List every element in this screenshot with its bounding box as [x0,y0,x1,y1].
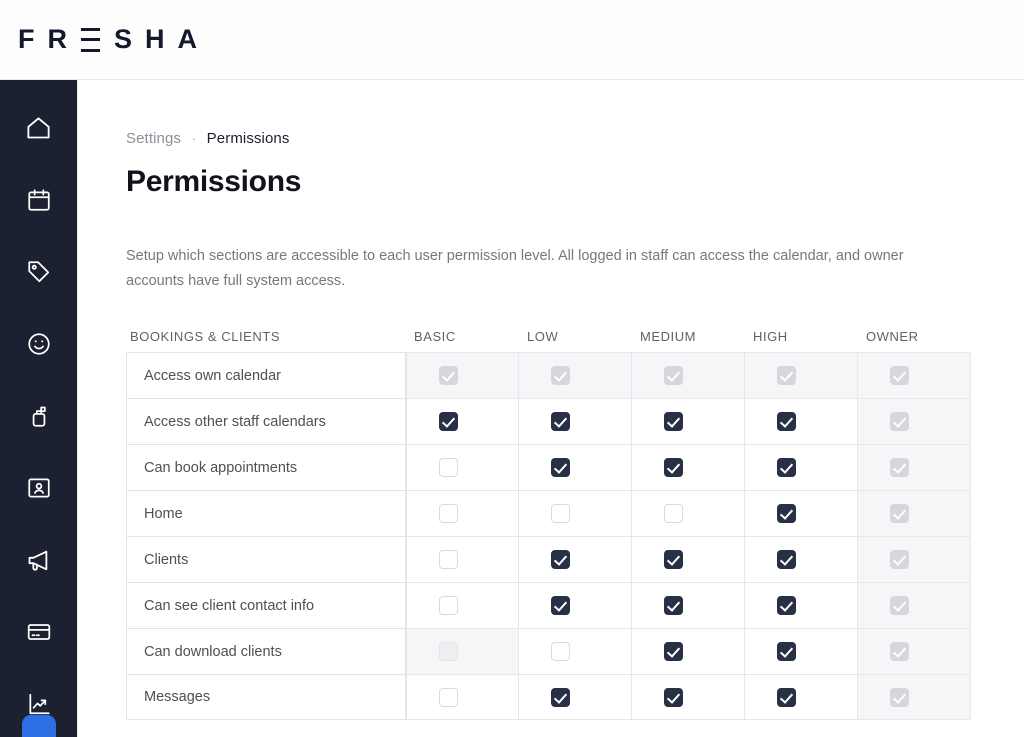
home-icon [25,115,52,142]
table-row: Access own calendar [126,352,971,398]
checkbox-disabled-checked-icon [890,688,909,707]
table-row: Messages [126,674,971,720]
permission-label: Access other staff calendars [126,398,406,444]
checkbox-checked-icon[interactable] [551,412,570,431]
permission-cell-low[interactable] [519,444,632,490]
logo-letter-h: H [145,26,165,53]
permission-cell-low[interactable] [519,674,632,720]
permission-cell-basic[interactable] [406,536,519,582]
checkbox-checked-icon[interactable] [551,688,570,707]
checkbox-unchecked-icon[interactable] [439,550,458,569]
checkbox-disabled-checked-icon [890,642,909,661]
permission-cell-high[interactable] [745,628,858,674]
table-row: Home [126,490,971,536]
checkbox-checked-icon[interactable] [777,504,796,523]
table-row: Clients [126,536,971,582]
permission-cell-low[interactable] [519,398,632,444]
permission-cell-medium[interactable] [632,444,745,490]
checkbox-checked-icon[interactable] [664,412,683,431]
checkbox-checked-icon[interactable] [777,688,796,707]
permission-label: Messages [126,674,406,720]
permission-cell-low[interactable] [519,582,632,628]
permission-cell-basic[interactable] [406,582,519,628]
checkbox-checked-icon[interactable] [664,596,683,615]
staff-card-icon [26,475,52,501]
permission-cell-low [519,352,632,398]
permission-label: Home [126,490,406,536]
fresha-logo[interactable]: F R S H A [18,23,197,57]
permission-cell-owner [858,444,971,490]
permission-cell-basic[interactable] [406,674,519,720]
checkbox-disabled-unchecked-icon [439,642,458,661]
logo-letter-s: S [114,26,132,53]
permission-cell-basic[interactable] [406,444,519,490]
checkbox-checked-icon[interactable] [777,412,796,431]
table-section-header: BOOKINGS & CLIENTS [126,329,406,344]
permissions-page: F R S H A [0,0,1024,737]
sidebar-item-calendar[interactable] [17,178,61,222]
soap-dispenser-icon [26,403,52,429]
main-content: Settings · Permissions Permissions Setup… [77,80,1024,737]
checkbox-checked-icon[interactable] [777,596,796,615]
checkbox-disabled-checked-icon [890,412,909,431]
permission-cell-high [745,352,858,398]
permission-cell-low[interactable] [519,628,632,674]
checkbox-checked-icon[interactable] [551,596,570,615]
checkbox-disabled-checked-icon [890,504,909,523]
permission-cell-owner [858,582,971,628]
checkbox-unchecked-icon[interactable] [551,642,570,661]
permission-cell-low[interactable] [519,536,632,582]
page-title: Permissions [126,165,1024,199]
permission-label: Can download clients [126,628,406,674]
checkbox-disabled-checked-icon [777,366,796,385]
smiley-icon [26,331,52,357]
checkbox-unchecked-icon[interactable] [551,504,570,523]
permission-cell-low[interactable] [519,490,632,536]
checkbox-disabled-checked-icon [664,366,683,385]
permission-cell-medium [632,352,745,398]
checkbox-disabled-checked-icon [439,366,458,385]
checkbox-disabled-checked-icon [890,550,909,569]
checkbox-checked-icon[interactable] [664,458,683,477]
table-header-row: BOOKINGS & CLIENTS BASIC LOW MEDIUM HIGH… [126,322,971,344]
tag-icon [26,259,52,285]
checkbox-checked-icon[interactable] [439,412,458,431]
sidebar-item-payments[interactable] [17,610,61,654]
permission-cell-medium[interactable] [632,536,745,582]
permission-cell-medium[interactable] [632,490,745,536]
checkbox-disabled-checked-icon [890,366,909,385]
logo-letter-a: A [178,26,198,53]
checkbox-checked-icon[interactable] [664,688,683,707]
user-avatar[interactable] [22,715,56,737]
logo-letter-f: F [18,26,35,53]
breadcrumb-separator: · [191,130,196,147]
checkbox-disabled-checked-icon [890,596,909,615]
sidebar-nav [0,80,77,737]
table-row: Access other staff calendars [126,398,971,444]
top-header: F R S H A [0,0,1024,80]
table-row: Can see client contact info [126,582,971,628]
checkbox-checked-icon[interactable] [777,458,796,477]
table-row: Can book appointments [126,444,971,490]
sidebar-item-products[interactable] [17,394,61,438]
logo-three-bar-e-icon [81,28,100,52]
table-row: Can download clients [126,628,971,674]
permission-cell-medium[interactable] [632,398,745,444]
checkbox-disabled-checked-icon [551,366,570,385]
permission-label: Clients [126,536,406,582]
permission-label: Access own calendar [126,352,406,398]
logo-letter-r: R [48,26,68,53]
permission-cell-owner [858,398,971,444]
column-header-medium: MEDIUM [632,329,745,344]
permission-cell-basic [406,352,519,398]
checkbox-checked-icon[interactable] [777,642,796,661]
checkbox-checked-icon[interactable] [664,642,683,661]
checkbox-unchecked-icon[interactable] [439,596,458,615]
sidebar-item-marketing[interactable] [17,538,61,582]
checkbox-checked-icon[interactable] [777,550,796,569]
sidebar-item-sales[interactable] [17,250,61,294]
table-body: Access own calendarAccess other staff ca… [126,352,971,720]
column-header-owner: OWNER [858,329,971,344]
breadcrumb: Settings · Permissions [126,130,1024,147]
permission-cell-high[interactable] [745,398,858,444]
checkbox-disabled-checked-icon [890,458,909,477]
credit-card-icon [26,619,52,645]
permission-label: Can book appointments [126,444,406,490]
column-header-high: HIGH [745,329,858,344]
sidebar-item-home[interactable] [17,106,61,150]
permission-cell-owner [858,352,971,398]
permission-cell-basic[interactable] [406,490,519,536]
permission-cell-high[interactable] [745,582,858,628]
breadcrumb-parent[interactable]: Settings [126,130,181,147]
breadcrumb-current: Permissions [207,130,290,147]
checkbox-unchecked-icon[interactable] [664,504,683,523]
permission-cell-owner [858,536,971,582]
sidebar-item-staff[interactable] [17,466,61,510]
permission-cell-owner [858,628,971,674]
checkbox-checked-icon[interactable] [551,458,570,477]
calendar-icon [26,187,52,213]
permission-cell-medium[interactable] [632,628,745,674]
permission-cell-medium[interactable] [632,582,745,628]
checkbox-checked-icon[interactable] [551,550,570,569]
analytics-chart-icon [26,691,52,717]
permission-cell-owner [858,490,971,536]
permission-cell-basic [406,628,519,674]
checkbox-checked-icon[interactable] [664,550,683,569]
sidebar-item-clients[interactable] [17,322,61,366]
permission-cell-high[interactable] [745,536,858,582]
permission-cell-owner [858,674,971,720]
permission-cell-basic[interactable] [406,398,519,444]
permission-cell-high[interactable] [745,490,858,536]
page-description: Setup which sections are accessible to e… [126,244,956,294]
megaphone-icon [25,547,52,574]
checkbox-unchecked-icon[interactable] [439,458,458,477]
permission-cell-high[interactable] [745,444,858,490]
column-header-basic: BASIC [406,329,519,344]
permission-cell-high[interactable] [745,674,858,720]
permission-cell-medium[interactable] [632,674,745,720]
permission-label: Can see client contact info [126,582,406,628]
column-header-low: LOW [519,329,632,344]
checkbox-unchecked-icon[interactable] [439,688,458,707]
permissions-table: BOOKINGS & CLIENTS BASIC LOW MEDIUM HIGH… [126,322,971,720]
checkbox-unchecked-icon[interactable] [439,504,458,523]
